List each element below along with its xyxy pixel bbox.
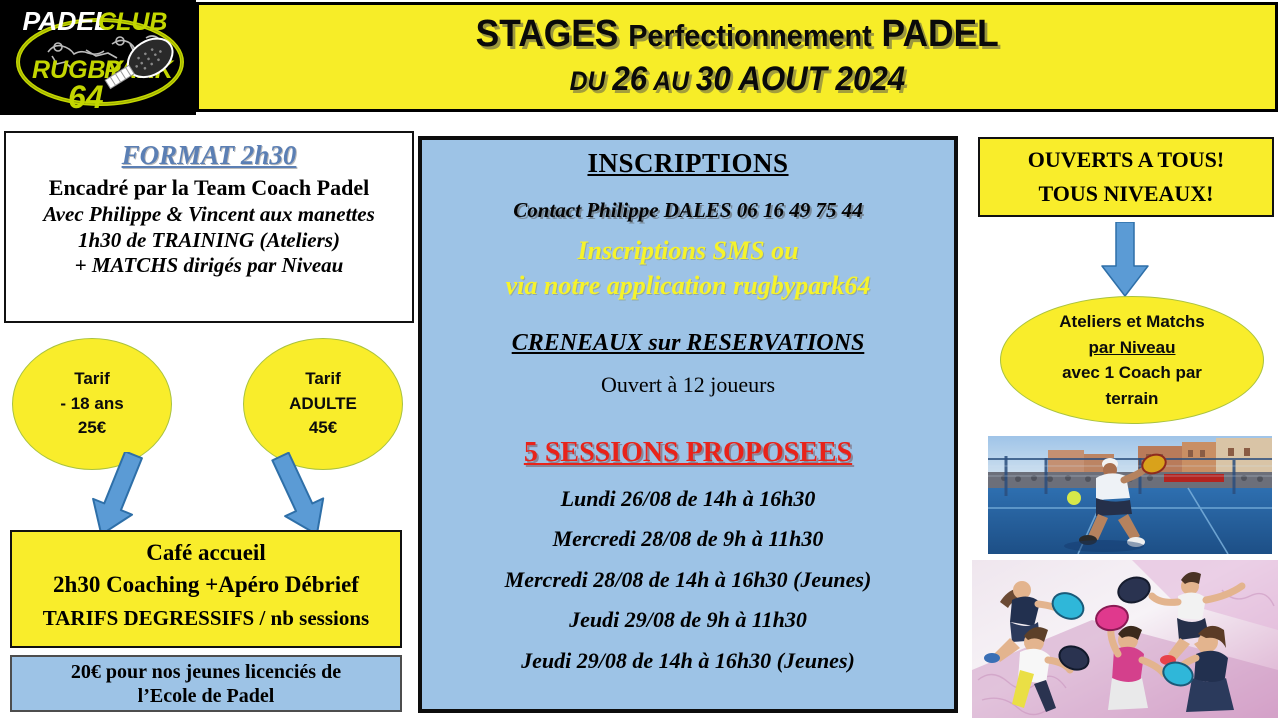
arrow-down-right-icon xyxy=(78,452,158,540)
ouverts-line-1: OUVERTS A TOUS! xyxy=(1028,143,1225,177)
session-item: Lundi 26/08 de 14h à 16h30 xyxy=(422,485,954,513)
poster-title-banner: STAGES Perfectionnement PADEL DU 26 AU 3… xyxy=(196,2,1278,112)
title-tail: PADEL xyxy=(872,13,999,55)
women-padel-players-photo-graphic xyxy=(972,560,1278,718)
format-line-coaches: Avec Philippe & Vincent aux manettes xyxy=(6,202,412,226)
subtitle-pre: DU xyxy=(569,66,612,96)
poster-title: STAGES Perfectionnement PADEL xyxy=(475,15,998,55)
title-main: STAGES xyxy=(475,13,628,55)
inscriptions-app-line: via notre application rugbypark64 xyxy=(422,268,954,303)
niveau-line-1: Ateliers et Matchs xyxy=(1059,309,1205,335)
ecole-padel-box: 20€ pour nos jeunes licenciés de l’Ecole… xyxy=(10,655,402,712)
inscriptions-panel: INSCRIPTIONS Contact Philippe DALES 06 1… xyxy=(418,136,958,713)
tarif-adulte-type: ADULTE xyxy=(289,392,357,417)
tarif-jeune-age: - 18 ans xyxy=(60,392,123,417)
arrow-down-icon xyxy=(1090,222,1160,298)
padel-court-photo xyxy=(988,436,1272,554)
women-padel-players-photo xyxy=(972,560,1278,718)
subtitle-num1: 26 xyxy=(612,60,647,98)
ecole-line-2: l’Ecole de Padel xyxy=(138,684,275,708)
session-item: Jeudi 29/08 de 14h à 16h30 (Jeunes) xyxy=(422,647,954,675)
poster-subtitle: DU 26 AU 30 AOUT 2024 xyxy=(569,60,905,99)
tarif-jeune-amount: 25€ xyxy=(78,416,106,441)
subtitle-rest: 30 AOUT 2024 xyxy=(696,60,905,98)
format-box: FORMAT 2h30 Encadré par la Team Coach Pa… xyxy=(4,131,414,323)
creneaux-reservations: CRENEAUX sur RESERVATIONS xyxy=(422,328,954,359)
subtitle-mid: AU xyxy=(647,66,696,96)
format-line-matchs: + MATCHS dirigés par Niveau xyxy=(6,253,412,278)
cafe-tarifs-line: TARIFS DEGRESSIFS / nb sessions xyxy=(12,603,400,633)
tarif-adulte-label: Tarif xyxy=(305,367,341,392)
format-title: FORMAT 2h30 xyxy=(6,139,412,173)
ouverts-line-2: TOUS NIVEAUX! xyxy=(1038,177,1213,211)
club-logo-graphic: PADEL CLUB RUGBY PARK 64 xyxy=(0,0,196,115)
club-logo: PADEL CLUB RUGBY PARK 64 xyxy=(0,0,196,115)
niveau-line-3: avec 1 Coach par xyxy=(1062,360,1202,386)
tarif-jeune-ellipse: Tarif - 18 ans 25€ xyxy=(12,338,172,470)
ouvert-joueurs: Ouvert à 12 joueurs xyxy=(422,371,954,400)
niveau-line-2: par Niveau xyxy=(1089,335,1176,361)
padel-court-photo-graphic xyxy=(988,436,1272,554)
ouverts-a-tous-box: OUVERTS A TOUS! TOUS NIVEAUX! xyxy=(978,137,1274,217)
sessions-title: 5 SESSIONS PROPOSEES xyxy=(422,435,954,471)
niveau-line-4: terrain xyxy=(1106,386,1159,412)
inscriptions-title: INSCRIPTIONS xyxy=(422,146,954,181)
format-line-training: 1h30 de TRAINING (Ateliers) xyxy=(6,228,412,253)
inscriptions-contact: Contact Philippe DALES 06 16 49 75 44 xyxy=(422,197,954,224)
format-line-encadre: Encadré par la Team Coach Padel xyxy=(6,175,412,201)
tarif-adulte-amount: 45€ xyxy=(309,416,337,441)
cafe-coaching-line: 2h30 Coaching +Apéro Débrief xyxy=(12,568,400,603)
tarif-jeune-label: Tarif xyxy=(74,367,110,392)
session-item: Mercredi 28/08 de 14h à 16h30 (Jeunes) xyxy=(422,566,954,594)
inscriptions-sms-line: Inscriptions SMS ou xyxy=(422,233,954,268)
ateliers-niveau-ellipse: Ateliers et Matchs par Niveau avec 1 Coa… xyxy=(1000,296,1264,424)
cafe-accueil-box: Café accueil 2h30 Coaching +Apéro Débrie… xyxy=(10,530,402,648)
session-item: Jeudi 29/08 de 9h à 11h30 xyxy=(422,606,954,634)
ecole-line-1: 20€ pour nos jeunes licenciés de xyxy=(71,660,341,684)
tarif-adulte-ellipse: Tarif ADULTE 45€ xyxy=(243,338,403,470)
cafe-title: Café accueil xyxy=(12,537,400,568)
svg-text:CLUB: CLUB xyxy=(98,8,167,36)
title-smallcaps: Perfectionnement xyxy=(628,18,872,53)
svg-text:64: 64 xyxy=(68,79,104,115)
session-item: Mercredi 28/08 de 9h à 11h30 xyxy=(422,525,954,553)
poster-root: PADEL CLUB RUGBY PARK 64 xyxy=(0,0,1280,720)
arrow-down-left-icon xyxy=(260,452,340,540)
